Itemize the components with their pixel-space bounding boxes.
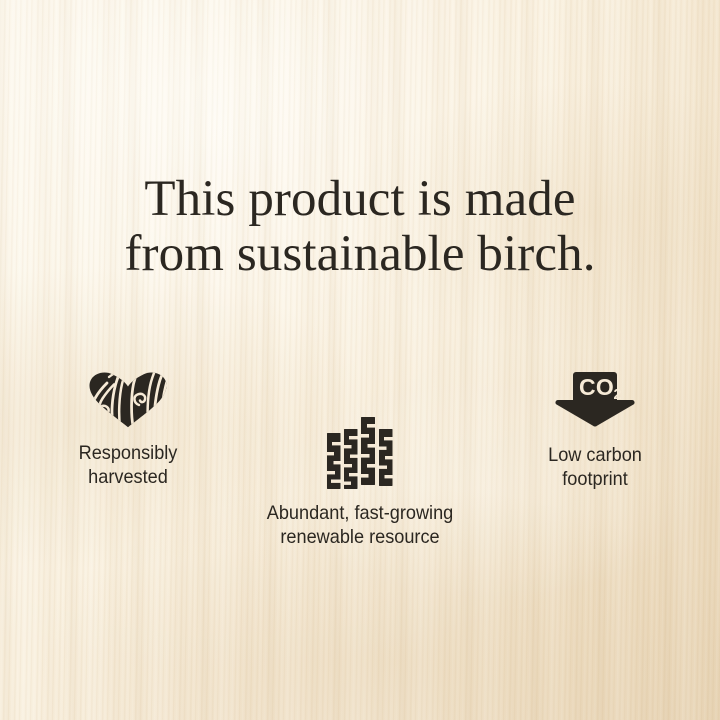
feature-caption: Abundant, fast-growing renewable resourc… [246,501,475,549]
co2-label: CO [579,374,614,400]
co2-down-arrow-icon: CO 2 [553,370,637,428]
feature-caption: Responsibly harvested [44,441,211,489]
feature-low-carbon-footprint: CO 2 Low carbon footprint [500,366,690,491]
caption-line-1: Low carbon [507,443,684,467]
caption-line-2: harvested [44,465,211,489]
co2-subscript: 2 [614,387,622,403]
product-info-card: This product is made from sustainable bi… [0,0,720,720]
feature-renewable-resource: Abundant, fast-growing renewable resourc… [237,414,483,549]
feature-responsibly-harvested: Responsibly harvested [38,366,218,489]
wood-grain-heart-icon [87,370,169,428]
headline-line-2: from sustainable birch. [0,227,720,282]
headline: This product is made from sustainable bi… [0,172,720,282]
headline-line-1: This product is made [0,172,720,227]
caption-line-1: Responsibly [44,441,211,465]
birch-trunks-icon [326,416,394,490]
feature-caption: Low carbon footprint [507,443,684,491]
caption-line-2: footprint [507,467,684,491]
feature-icon-container [38,366,218,428]
feature-icon-container [237,414,483,490]
caption-line-2: renewable resource [246,525,475,549]
caption-line-1: Abundant, fast-growing [246,501,475,525]
feature-icon-container: CO 2 [500,366,690,428]
card-content: This product is made from sustainable bi… [0,0,720,720]
